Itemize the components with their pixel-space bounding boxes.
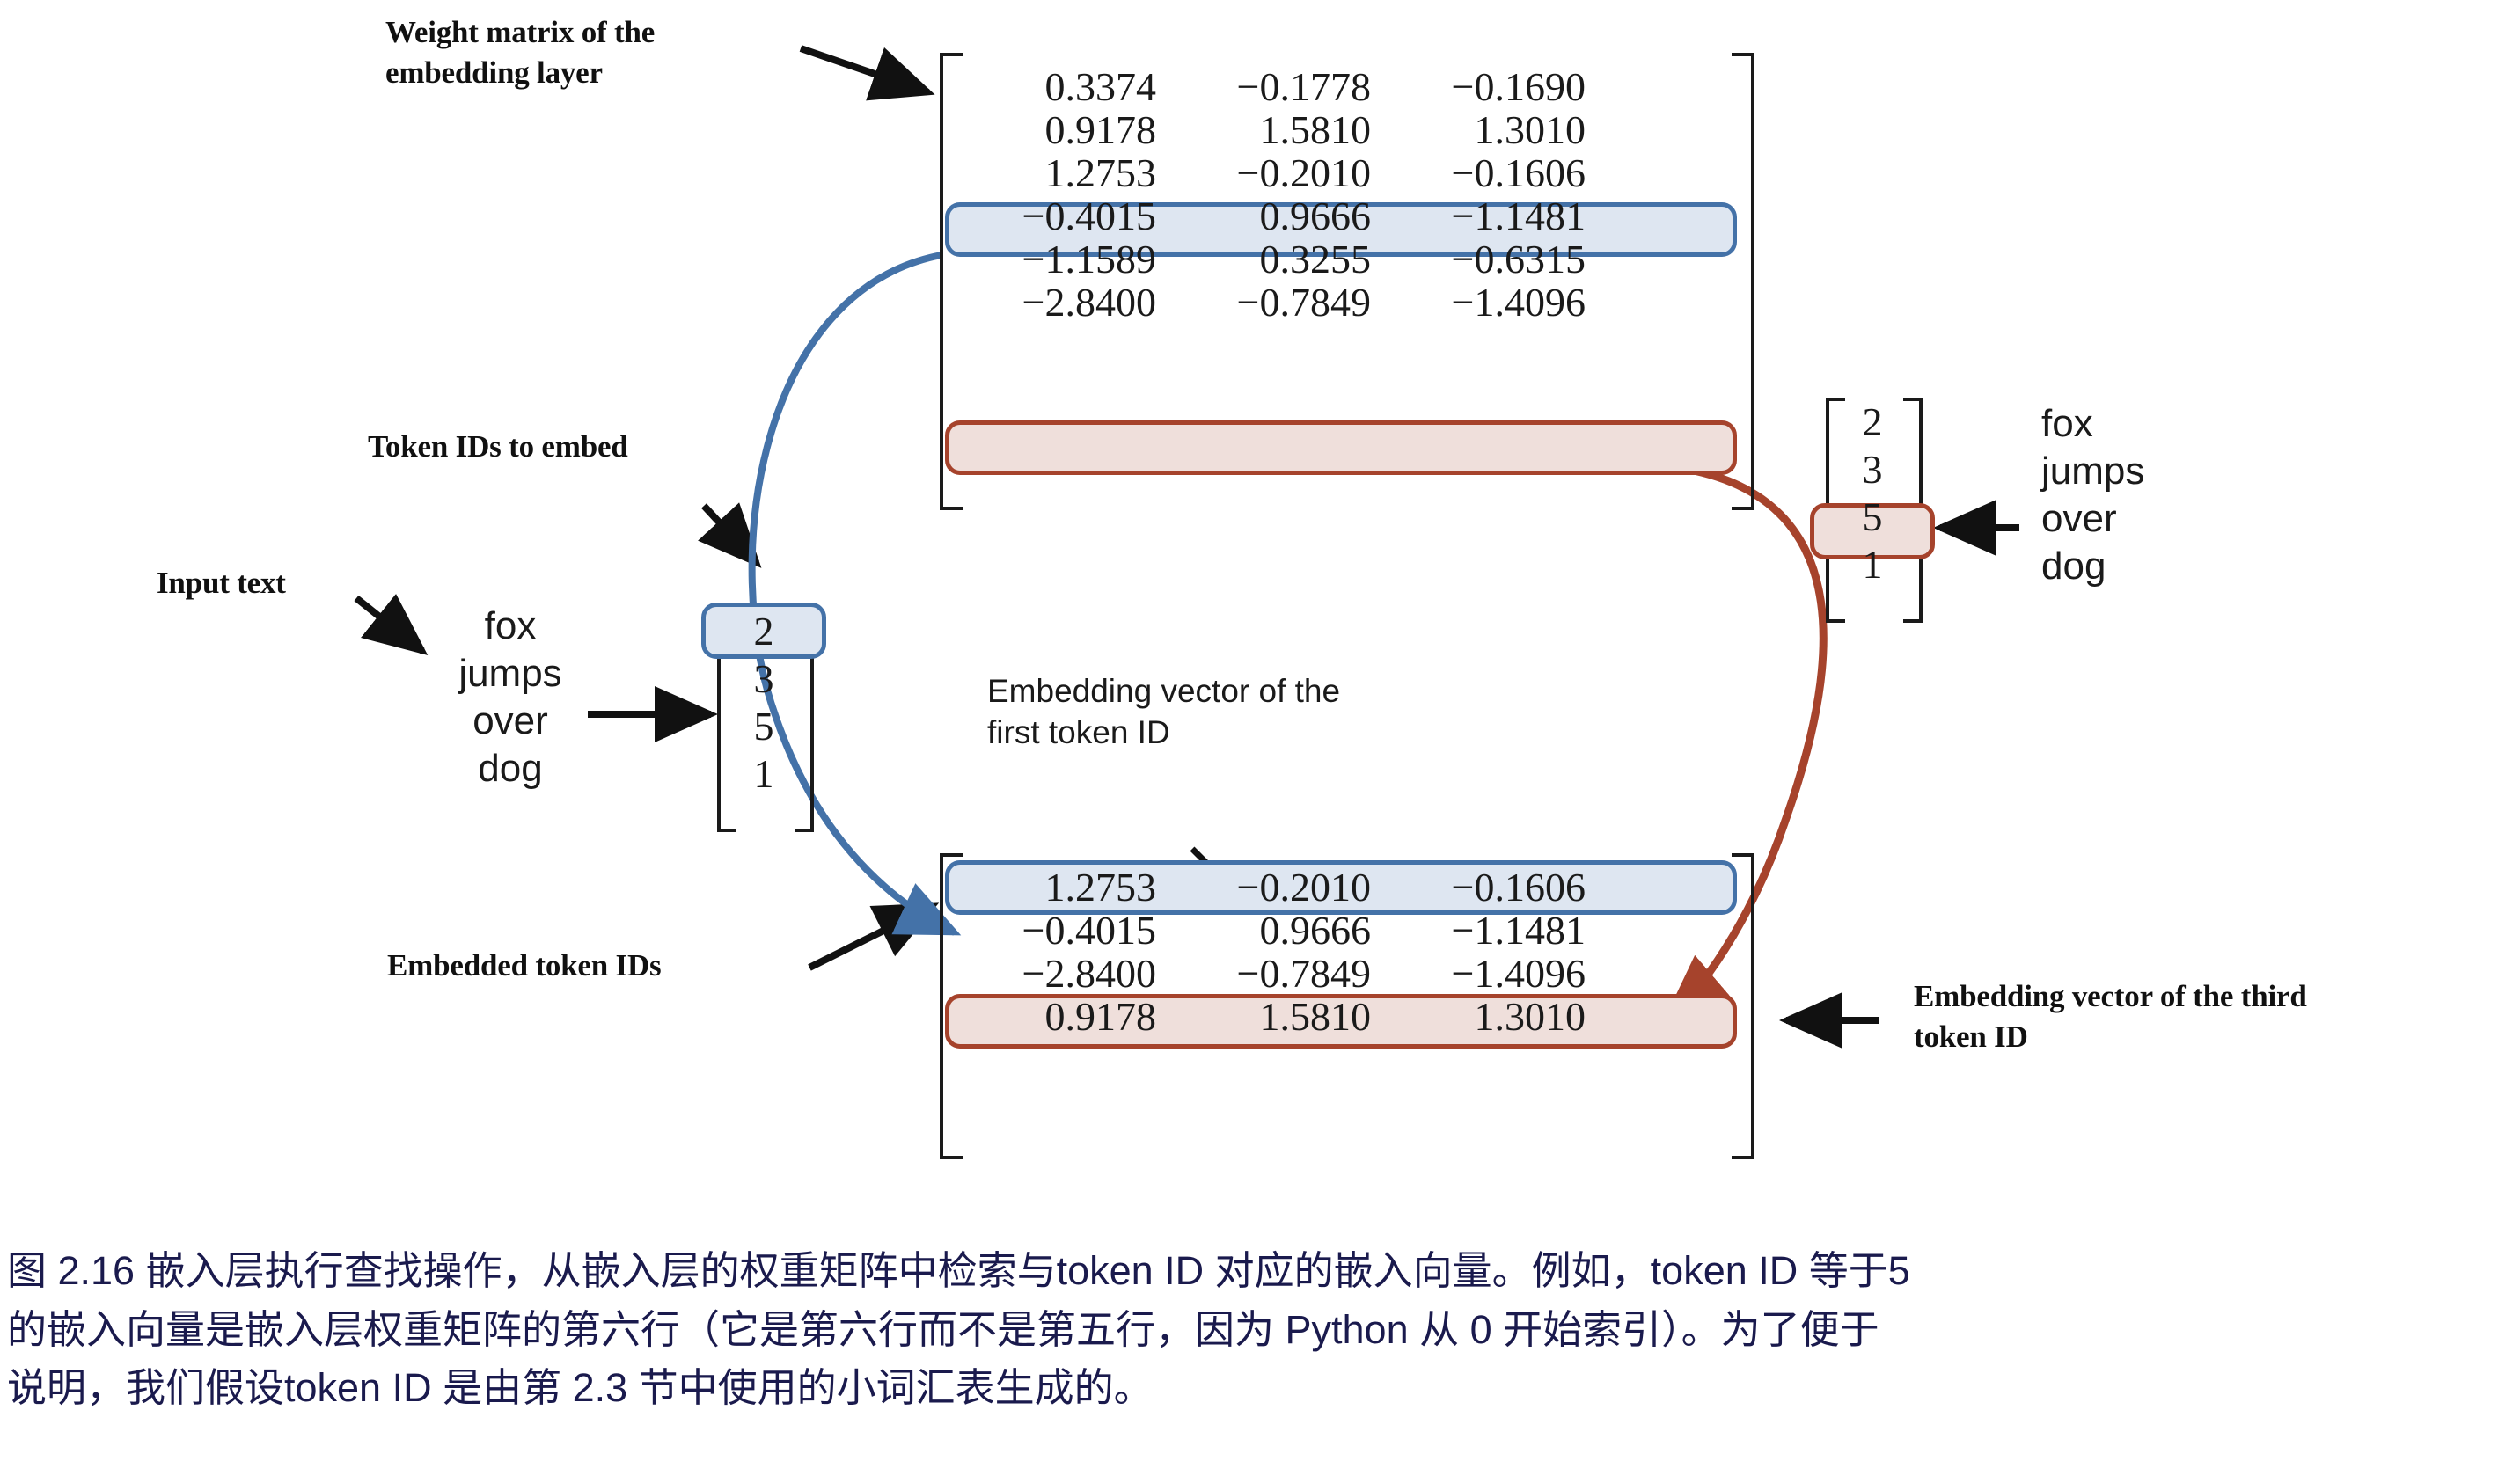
matrix-cell: 1.3010	[1401, 993, 1591, 1040]
matrix-cell: −0.4015	[971, 907, 1161, 954]
weight-row-highlight-red	[945, 420, 1737, 475]
matrix-cell: 0.9178	[971, 993, 1161, 1040]
token-id-row: 3	[1847, 445, 1898, 493]
matrix-cell: 0.9178	[971, 106, 1161, 153]
token-id-value: 3	[1847, 446, 1898, 493]
matrix-cell: 1.3010	[1401, 106, 1591, 153]
arrow-weight-matrix	[801, 48, 928, 92]
input-text-words-left: fox jumps over dog	[422, 607, 598, 797]
matrix-row: −1.1589 0.3255 −0.6315	[971, 237, 1591, 281]
matrix-row: 0.3374 −0.1778 −0.1690	[971, 65, 1591, 108]
matrix-row: −2.8400 −0.7849 −1.4096	[971, 281, 1591, 324]
figure-embedding-lookup: Weight matrix of the embedding layer Tok…	[0, 0, 2520, 1231]
token-id-row: 2	[738, 607, 789, 654]
matrix-cell: −0.7849	[1186, 950, 1376, 997]
label-embedding-vector-third: Embedding vector of the third token ID	[1914, 976, 2520, 1056]
matrix-cell: −0.2010	[1186, 864, 1376, 910]
matrix-cell: 0.3255	[1186, 236, 1376, 282]
input-word: dog	[2041, 547, 2244, 584]
token-id-column-left: 2 3 5 1	[717, 607, 789, 797]
token-id-row: 1	[738, 749, 789, 797]
caption-line: 说明，我们假设token ID 是由第 2.3 节中使用的小词汇表生成的。	[7, 1359, 2515, 1418]
matrix-cell: −2.8400	[971, 279, 1161, 325]
matrix-row: 1.2753 −0.2010 −0.1606	[971, 151, 1591, 194]
matrix-cell: −0.1778	[1186, 63, 1376, 110]
embedded-matrix: 1.2753 −0.2010 −0.1606 −0.4015 0.9666 −1…	[940, 853, 1591, 1038]
matrix-row: −0.4015 0.9666 −1.1481	[971, 909, 1591, 952]
caption-line: 图 2.16 嵌入层执行查找操作，从嵌入层的权重矩阵中检索与token ID 对…	[7, 1242, 2515, 1301]
token-id-value: 2	[738, 608, 789, 654]
token-id-column-right: 2 3 5 1	[1826, 398, 1898, 588]
input-word: over	[2041, 500, 2244, 537]
input-word: fox	[422, 607, 598, 644]
token-id-value: 5	[1847, 493, 1898, 540]
matrix-cell: −0.1606	[1401, 864, 1591, 910]
matrix-cell: −1.1481	[1401, 907, 1591, 954]
matrix-row: 1.2753 −0.2010 −0.1606	[971, 866, 1591, 909]
label-input-text: Input text	[157, 563, 421, 603]
label-weight-matrix: Weight matrix of the embedding layer	[385, 12, 799, 92]
token-id-row: 1	[1847, 540, 1898, 588]
token-id-value: 1	[738, 750, 789, 797]
input-word: jumps	[422, 654, 598, 691]
matrix-row: −2.8400 −0.7849 −1.4096	[971, 952, 1591, 995]
token-id-value: 2	[1847, 398, 1898, 445]
label-embedding-vector-first: Embedding vector of the first token ID	[987, 670, 1550, 754]
matrix-cell: −1.1589	[971, 236, 1161, 282]
input-text-words-right: fox jumps over dog	[2041, 405, 2244, 595]
token-id-row: 3	[738, 654, 789, 702]
curve-blue-lookup	[752, 255, 955, 932]
matrix-cell: −0.6315	[1401, 236, 1591, 282]
input-word: jumps	[2041, 452, 2244, 489]
matrix-cell: 0.9666	[1186, 193, 1376, 239]
matrix-cell: −0.1690	[1401, 63, 1591, 110]
matrix-cell: −0.7849	[1186, 279, 1376, 325]
token-id-row: 5	[738, 702, 789, 749]
matrix-cell: 1.2753	[971, 864, 1161, 910]
matrix-cell: −0.4015	[971, 193, 1161, 239]
arrow-token-ids-to-embed	[704, 506, 757, 563]
token-id-row: 5	[1847, 493, 1898, 540]
matrix-cell: 0.3374	[971, 63, 1161, 110]
arrow-input-text	[356, 598, 422, 651]
matrix-cell: 1.2753	[971, 150, 1161, 196]
matrix-cell: 0.9666	[1186, 907, 1376, 954]
figure-caption: 图 2.16 嵌入层执行查找操作，从嵌入层的权重矩阵中检索与token ID 对…	[7, 1242, 2515, 1418]
label-token-ids-to-embed: Token IDs to embed	[368, 427, 781, 467]
token-id-value: 3	[738, 655, 789, 702]
matrix-cell: −0.1606	[1401, 150, 1591, 196]
matrix-cell: −2.8400	[971, 950, 1161, 997]
input-word: over	[422, 702, 598, 739]
token-id-row: 2	[1847, 398, 1898, 445]
label-embedded-token-ids: Embedded token IDs	[387, 946, 845, 986]
input-word: fox	[2041, 405, 2244, 442]
token-id-value: 1	[1847, 541, 1898, 588]
token-id-value: 5	[738, 703, 789, 749]
matrix-cell: 1.5810	[1186, 106, 1376, 153]
matrix-row: −0.4015 0.9666 −1.1481	[971, 194, 1591, 237]
weight-matrix: 0.3374 −0.1778 −0.1690 0.9178 1.5810 1.3…	[940, 53, 1591, 324]
caption-line: 的嵌入向量是嵌入层权重矩阵的第六行（它是第六行而不是第五行，因为 Python …	[7, 1301, 2515, 1360]
matrix-cell: −1.4096	[1401, 279, 1591, 325]
matrix-cell: 1.5810	[1186, 993, 1376, 1040]
matrix-row: 0.9178 1.5810 1.3010	[971, 108, 1591, 151]
matrix-cell: −0.2010	[1186, 150, 1376, 196]
matrix-cell: −1.1481	[1401, 193, 1591, 239]
matrix-row: 0.9178 1.5810 1.3010	[971, 995, 1591, 1038]
matrix-cell: −1.4096	[1401, 950, 1591, 997]
input-word: dog	[422, 749, 598, 786]
